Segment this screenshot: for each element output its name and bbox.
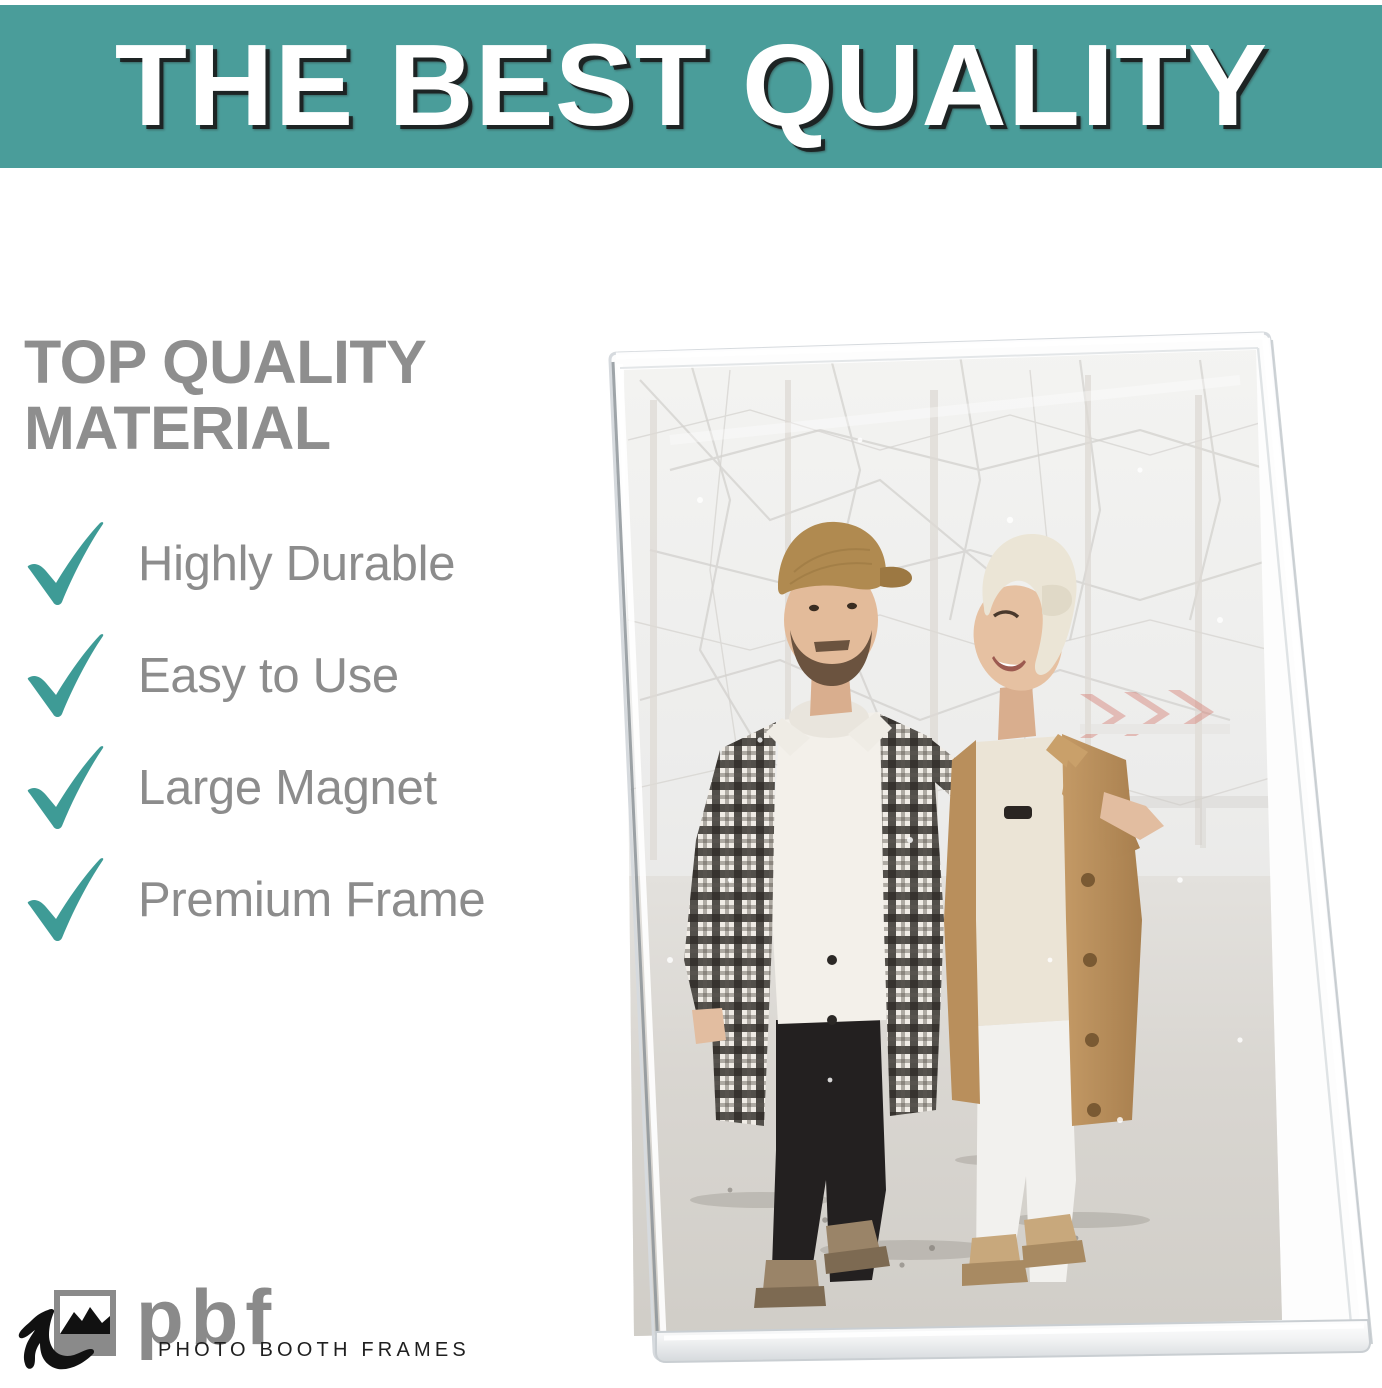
check-icon [24,520,116,608]
feature-label: Large Magnet [138,760,437,816]
feature-label: Highly Durable [138,536,455,592]
brand-logo: pbf PHOTO BOOTH FRAMES [18,1282,398,1382]
list-item: Premium Frame [24,844,624,956]
list-item: Easy to Use [24,620,624,732]
photo-frame-in-hand-icon [18,1282,142,1382]
acrylic-frame-illustration [580,320,1382,1380]
product-image [580,320,1382,1380]
features-section: TOP QUALITY MATERIAL Highly Durable Easy… [24,330,624,956]
feature-label: Premium Frame [138,872,485,928]
check-icon [24,856,116,944]
header-banner: THE BEST QUALITY [0,5,1382,168]
feature-label: Easy to Use [138,648,399,704]
logo-tagline: PHOTO BOOTH FRAMES [158,1340,470,1360]
feature-list: Highly Durable Easy to Use Large Magnet [24,508,624,956]
banner-title: THE BEST QUALITY [114,27,1268,143]
list-item: Large Magnet [24,732,624,844]
section-heading: TOP QUALITY MATERIAL [24,330,624,462]
check-icon [24,744,116,832]
list-item: Highly Durable [24,508,624,620]
check-icon [24,632,116,720]
